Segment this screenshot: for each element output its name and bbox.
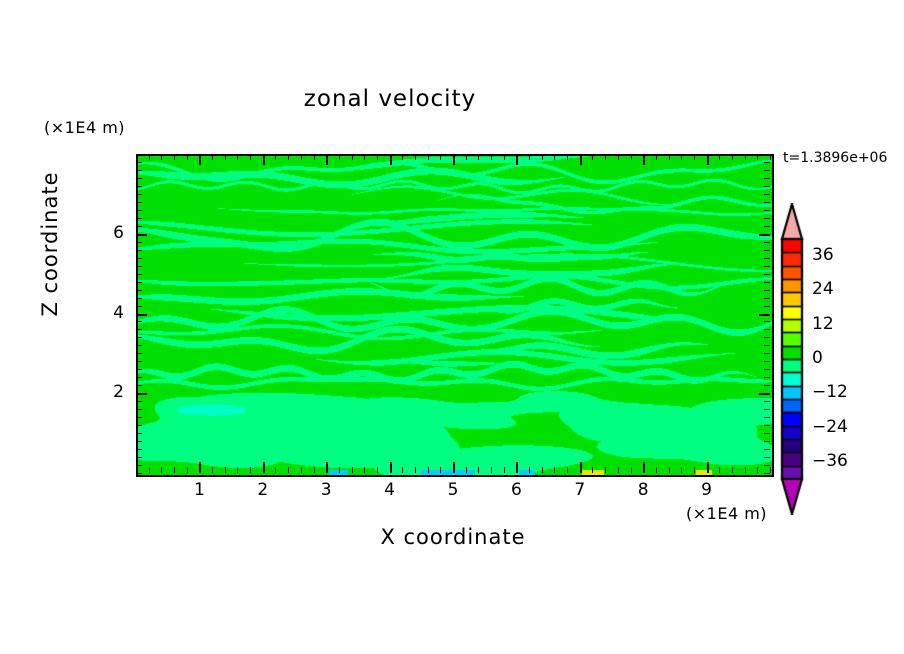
axis-tick [390,154,392,165]
axis-tick [764,377,770,378]
axis-tick [504,467,505,473]
y-tick-label: 2 [84,382,124,402]
axis-tick [174,467,175,473]
axis-tick [764,194,770,195]
axis-tick [187,154,188,160]
axis-tick [136,385,142,386]
axis-tick [453,154,455,165]
x-tick-label: 3 [306,480,346,500]
colorbar-tick-label: −24 [812,417,848,437]
axis-tick [136,250,142,251]
time-annotation: t=1.3896e+06 [783,150,887,166]
axis-tick [618,154,619,160]
axis-tick [402,154,403,160]
axis-tick [764,425,770,426]
axis-tick [288,154,289,160]
axis-tick [764,290,770,291]
axis-tick [764,329,770,330]
axis-tick [136,162,142,163]
x-tick-label: 8 [623,480,663,500]
axis-tick [237,467,238,473]
axis-tick [764,449,770,450]
axis-tick [187,467,188,473]
axis-tick [136,290,142,291]
axis-tick [764,210,770,211]
axis-tick [542,154,543,160]
axis-tick [149,467,150,473]
axis-tick [764,282,770,283]
x-axis-units-label: (×1E4 m) [686,504,767,523]
axis-tick [263,462,265,473]
axis-tick [516,462,518,473]
axis-tick [136,202,142,203]
axis-tick [339,467,340,473]
colorbar-tick-label: 24 [812,279,834,299]
axis-tick [764,345,770,346]
y-tick-label: 4 [84,303,124,323]
axis-tick [326,462,328,473]
axis-tick [199,154,201,165]
axis-tick [428,467,429,473]
page-title: zonal velocity [0,86,780,112]
axis-tick [592,467,593,473]
axis-tick [136,170,142,171]
axis-tick [161,467,162,473]
axis-tick [136,449,142,450]
axis-tick [605,467,606,473]
colorbar-tick-label: 0 [812,348,823,368]
axis-tick [759,234,770,236]
axis-tick [136,226,142,227]
axis-tick [764,178,770,179]
axis-tick [764,162,770,163]
axis-tick [250,154,251,160]
axis-tick [764,473,770,474]
axis-tick [136,178,142,179]
axis-tick [764,361,770,362]
axis-tick [764,306,770,307]
axis-tick [764,170,770,171]
x-tick-label: 5 [433,480,473,500]
axis-tick [453,462,455,473]
axis-tick [764,242,770,243]
axis-tick [136,194,142,195]
axis-tick [225,154,226,160]
axis-tick [136,321,142,322]
axis-tick [136,234,147,236]
axis-tick [174,154,175,160]
axis-tick [149,154,150,160]
colorbar-gradient [780,203,804,515]
axis-tick [136,425,142,426]
axis-tick [707,462,709,473]
axis-tick [136,473,142,474]
axis-tick [491,467,492,473]
axis-tick [415,467,416,473]
axis-tick [764,441,770,442]
axis-tick [631,154,632,160]
axis-tick [478,467,479,473]
axis-tick [326,154,328,165]
axis-tick [212,154,213,160]
plot-area [136,154,774,477]
axis-tick [529,154,530,160]
axis-tick [466,154,467,160]
axis-tick [745,467,746,473]
axis-tick [364,154,365,160]
colorbar-tick-label: 36 [812,245,834,265]
axis-tick [136,298,142,299]
axis-tick [136,218,142,219]
axis-tick [694,154,695,160]
colorbar-tick-label: −12 [812,382,848,402]
x-tick-label: 1 [179,480,219,500]
x-axis-title: X coordinate [136,525,770,549]
axis-tick [136,465,142,466]
axis-tick [764,186,770,187]
axis-tick [136,186,142,187]
axis-tick [719,467,720,473]
axis-tick [764,154,770,155]
axis-tick [757,467,758,473]
axis-tick [745,154,746,160]
axis-tick [764,353,770,354]
axis-tick [478,154,479,160]
axis-tick [136,306,142,307]
axis-tick [764,250,770,251]
axis-tick [136,337,142,338]
axis-tick [136,282,142,283]
axis-tick [554,154,555,160]
axis-tick [136,345,142,346]
axis-tick [764,401,770,402]
axis-tick [339,154,340,160]
axis-tick [136,457,142,458]
axis-tick [732,467,733,473]
axis-tick [764,266,770,267]
axis-tick [136,433,142,434]
axis-tick [136,441,142,442]
axis-tick [225,467,226,473]
axis-tick [542,467,543,473]
axis-tick [580,462,582,473]
x-tick-label: 2 [243,480,283,500]
axis-tick [377,154,378,160]
axis-tick [764,337,770,338]
axis-tick [643,462,645,473]
axis-tick [314,154,315,160]
axis-tick [402,467,403,473]
axis-tick [567,154,568,160]
axis-tick [440,154,441,160]
axis-tick [212,467,213,473]
axis-tick [136,242,142,243]
axis-tick [764,258,770,259]
axis-tick [567,467,568,473]
axis-tick [516,154,518,165]
axis-tick [770,467,771,473]
axis-tick [770,154,771,160]
axis-tick [669,467,670,473]
axis-tick [764,274,770,275]
axis-tick [301,467,302,473]
x-tick-label: 6 [496,480,536,500]
axis-tick [656,467,657,473]
colorbar [780,203,804,515]
axis-tick [440,467,441,473]
axis-tick [352,467,353,473]
axis-tick [764,433,770,434]
axis-tick [136,401,142,402]
axis-tick [764,409,770,410]
axis-tick [618,467,619,473]
x-tick-label: 7 [560,480,600,500]
axis-tick [764,321,770,322]
axis-tick [554,467,555,473]
axis-tick [314,467,315,473]
axis-tick [732,154,733,160]
axis-tick [199,462,201,473]
axis-tick [757,154,758,160]
axis-tick [764,218,770,219]
axis-tick [759,393,770,395]
axis-tick [136,329,142,330]
axis-tick [250,467,251,473]
axis-tick [275,154,276,160]
figure-canvas: zonal velocity (×1E4 m) t=1.3896e+06 123… [0,0,904,654]
axis-tick [288,467,289,473]
axis-tick [764,417,770,418]
axis-tick [707,154,709,165]
axis-tick [764,226,770,227]
axis-tick [136,377,142,378]
axis-tick [237,154,238,160]
colorbar-tick-label: −36 [812,451,848,471]
x-tick-label: 4 [370,480,410,500]
axis-tick [136,210,142,211]
axis-tick [656,154,657,160]
axis-tick [764,457,770,458]
axis-tick [694,467,695,473]
y-tick-label: 6 [84,223,124,243]
axis-tick [136,393,147,395]
axis-tick [136,314,147,316]
axis-tick [764,385,770,386]
axis-tick [136,409,142,410]
axis-tick [529,467,530,473]
axis-tick [605,154,606,160]
axis-tick [136,154,142,155]
axis-tick [681,154,682,160]
axis-tick [136,361,142,362]
axis-tick [352,154,353,160]
axis-tick [377,467,378,473]
axis-tick [428,154,429,160]
axis-tick [466,467,467,473]
axis-tick [301,154,302,160]
axis-tick [390,462,392,473]
axis-tick [136,266,142,267]
y-axis-title: Z coordinate [38,164,62,324]
axis-tick [719,154,720,160]
axis-tick [764,465,770,466]
axis-tick [643,154,645,165]
axis-tick [263,154,265,165]
axis-tick [764,298,770,299]
axis-tick [764,369,770,370]
y-axis-units-label: (×1E4 m) [44,118,125,137]
contour-field [138,156,772,475]
axis-tick [136,417,142,418]
axis-tick [364,467,365,473]
axis-tick [415,154,416,160]
axis-tick [161,154,162,160]
axis-tick [136,353,142,354]
axis-tick [580,154,582,165]
axis-tick [764,202,770,203]
colorbar-tick-label: 12 [812,314,834,334]
axis-tick [275,467,276,473]
axis-tick [504,154,505,160]
x-tick-label: 9 [687,480,727,500]
axis-tick [759,314,770,316]
axis-tick [631,467,632,473]
axis-tick [681,467,682,473]
axis-tick [669,154,670,160]
axis-tick [136,369,142,370]
axis-tick [592,154,593,160]
axis-tick [136,274,142,275]
axis-tick [491,154,492,160]
axis-tick [136,258,142,259]
